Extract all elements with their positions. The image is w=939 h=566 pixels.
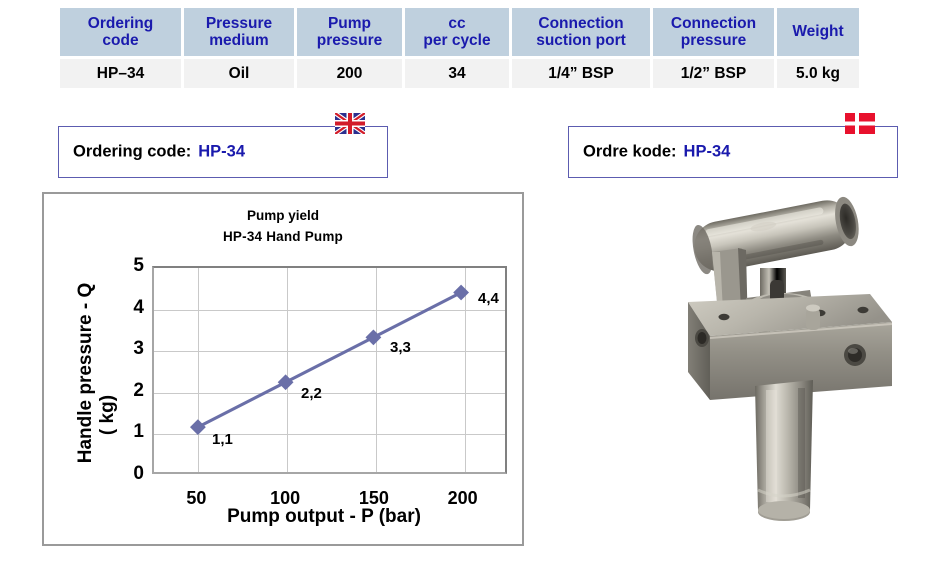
header-line-2: suction port [536, 32, 626, 49]
table-header-connection-suction-port: Connectionsuction port [512, 8, 650, 56]
header-line-1: Weight [792, 23, 843, 40]
y-tick-label-2: 2 [118, 380, 144, 402]
header-line-1: Ordering [88, 15, 153, 32]
data-point-label: 4,4 [478, 290, 499, 307]
cell-connection-suction-port: 1/4” BSP [512, 59, 650, 88]
cell-weight: 5.0 kg [777, 59, 859, 88]
cell-pressure-medium: Oil [184, 59, 294, 88]
header-line-1: Connection [538, 15, 623, 32]
y-axis-title: Handle pressure - Q ( kg) [50, 254, 94, 494]
table-header-weight: Weight [777, 8, 859, 56]
uk-flag-icon [335, 113, 365, 134]
table-header-cc-per-cycle: ccper cycle [405, 8, 509, 56]
y-axis-title-line-1: Handle pressure - Q [75, 253, 97, 493]
y-axis-title-line-2: ( kg) [97, 295, 119, 535]
ordering-code-box-danish: Ordre kode:HP-34 [568, 126, 898, 178]
cell-pump-pressure: 200 [297, 59, 402, 88]
pump-yield-chart: Pump yield HP-34 Hand Pump Handle pressu… [42, 192, 524, 546]
table-header-ordering-code: Orderingcode [60, 8, 181, 56]
cell-connection-pressure: 1/2” BSP [653, 59, 774, 88]
y-tick-label-4: 4 [118, 297, 144, 319]
ordering-code-value-english: HP-34 [198, 143, 245, 161]
y-tick-label-1: 1 [118, 421, 144, 443]
page-root: Orderingcode Pressuremedium Pumppressure… [0, 0, 939, 566]
cell-ordering-code: HP–34 [60, 59, 181, 88]
header-line-1: Pressure [206, 15, 272, 32]
table-header-connection-pressure: Connectionpressure [653, 8, 774, 56]
ordering-code-value-danish: HP-34 [684, 143, 731, 161]
series-line [154, 268, 505, 472]
ordering-code-label-danish: Ordre kode: [583, 143, 677, 161]
chart-plot-area: 1,1 2,2 3,3 4,4 [152, 266, 507, 474]
denmark-flag-icon [845, 113, 875, 134]
header-line-2: pressure [681, 32, 746, 49]
chart-title-line-2: HP-34 Hand Pump [44, 227, 522, 248]
specification-table: Orderingcode Pressuremedium Pumppressure… [60, 8, 891, 88]
ordering-code-box-english: Ordering code:HP-34 [58, 126, 388, 178]
data-point-label: 1,1 [212, 431, 233, 448]
header-line-2: pressure [317, 32, 382, 49]
product-photo-hand-pump [620, 190, 939, 566]
header-line-1: Pump [328, 15, 371, 32]
y-tick-label-5: 5 [118, 255, 144, 277]
chart-title: Pump yield HP-34 Hand Pump [44, 206, 522, 248]
ordering-code-label-english: Ordering code: [73, 143, 191, 161]
data-point-label: 2,2 [301, 385, 322, 402]
header-line-2: medium [209, 32, 268, 49]
table-header-row: Orderingcode Pressuremedium Pumppressure… [60, 8, 891, 56]
chart-title-line-1: Pump yield [44, 206, 522, 227]
y-tick-label-3: 3 [118, 338, 144, 360]
x-axis-title: Pump output - P (bar) [134, 506, 514, 528]
header-line-2: per cycle [423, 32, 490, 49]
cell-cc-per-cycle: 34 [405, 59, 509, 88]
ordering-code-text-danish: Ordre kode:HP-34 [583, 143, 730, 162]
y-tick-label-0: 0 [118, 463, 144, 485]
table-row: HP–34 Oil 200 34 1/4” BSP 1/2” BSP 5.0 k… [60, 59, 891, 88]
table-header-pressure-medium: Pressuremedium [184, 8, 294, 56]
table-header-pump-pressure: Pumppressure [297, 8, 402, 56]
header-line-2: code [102, 32, 138, 49]
ordering-code-text-english: Ordering code:HP-34 [73, 143, 245, 162]
header-line-1: Connection [671, 15, 756, 32]
data-point-label: 3,3 [390, 339, 411, 356]
header-line-1: cc [448, 15, 465, 32]
